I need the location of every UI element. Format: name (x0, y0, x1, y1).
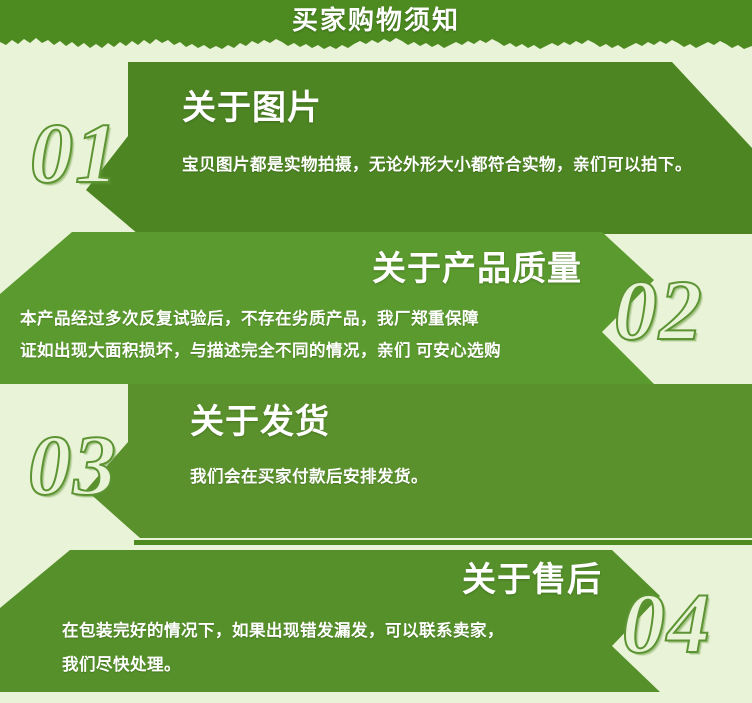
section-numeral-02: 02 (614, 267, 704, 353)
section-03: 03 关于发货 我们会在买家付款后安排发货。 (0, 384, 752, 538)
section-body-04-line-2: 我们尽快处理。 (62, 650, 181, 680)
divider-stripe (134, 540, 752, 545)
section-body-02-line-1: 本产品经过多次反复试验后，不存在劣质产品，我厂郑重保障 (20, 304, 479, 334)
section-body-01-line-1: 宝贝图片都是实物拍摄，无论外形大小都符合实物，亲们可以拍下。 (182, 150, 692, 180)
section-body-04-line-1: 在包装完好的情况下，如果出现错发漏发，可以联系卖家， (62, 616, 504, 646)
section-02: 02 关于产品质量 本产品经过多次反复试验后，不存在劣质产品，我厂郑重保障 证如… (0, 232, 752, 384)
section-title-02: 关于产品质量 (372, 249, 582, 289)
section-04: 04 关于售后 在包装完好的情况下，如果出现错发漏发，可以联系卖家， 我们尽快处… (0, 550, 752, 692)
section-body-02-line-2: 证如出现大面积损坏，与描述完全不同的情况，亲们 可安心选购 (20, 336, 501, 366)
section-title-04: 关于售后 (462, 560, 602, 600)
section-title-01: 关于图片 (182, 88, 322, 128)
section-numeral-01: 01 (30, 110, 120, 196)
section-numeral-03: 03 (28, 422, 118, 508)
page-title: 买家购物须知 (0, 3, 752, 37)
shopping-notice-page: 买家购物须知 01 关于图片 宝贝图片都是实物拍摄，无论外形大小都符合实物，亲们… (0, 0, 752, 703)
page-header: 买家购物须知 (0, 0, 752, 52)
section-01: 01 关于图片 宝贝图片都是实物拍摄，无论外形大小都符合实物，亲们可以拍下。 (0, 62, 752, 234)
section-body-03-line-1: 我们会在买家付款后安排发货。 (190, 462, 428, 492)
section-title-03: 关于发货 (190, 402, 330, 442)
section-numeral-04: 04 (622, 580, 712, 666)
